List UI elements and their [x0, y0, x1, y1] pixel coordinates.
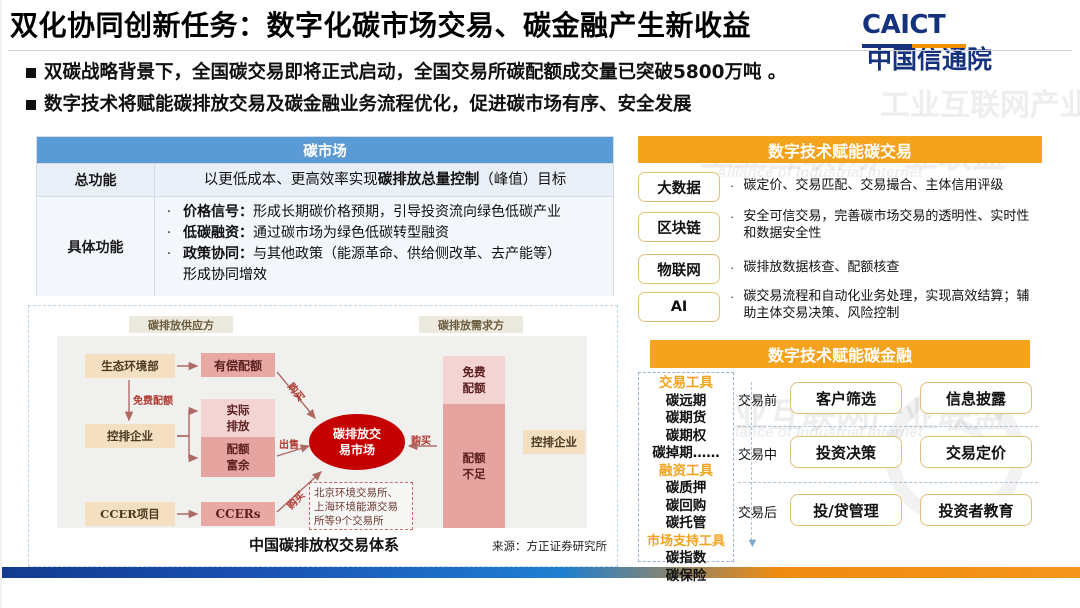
diagram-box-free-quota-demand: 免费配额 [443, 356, 505, 404]
tech-desc-text-3: 碳排放数据核查、配额核查 [743, 259, 899, 276]
bullet-text-1: 双碳战略背景下，全国碳交易即将正式启动，全国交易所碳配额成交量已突破5800万吨… [44, 60, 786, 86]
finance-pill-loan-management[interactable]: 投/贷管理 [790, 494, 902, 526]
list-item: · 低碳融资：通过碳市场为绿色低碳转型融资 [165, 223, 605, 244]
diagram-caption: 中国碳排放权交易体系 [29, 534, 619, 555]
slide-root: 工业互联网产业联盟 Alliance of Industrial Interne… [0, 0, 1080, 608]
stage-label-post: 交易后 [738, 502, 782, 521]
bullet-dot-icon: · [165, 244, 173, 265]
diagram-arrow-label-free-quota: 免费配额 [133, 392, 173, 407]
total-function-post: （峰值）目标 [479, 172, 566, 188]
stage-separator [738, 482, 1038, 483]
detail-term-3: 政策协同： [183, 246, 253, 262]
tools-item: 碳远期 [639, 393, 733, 411]
diagram-box-controlled-enterprise-left: 控排企业 [85, 424, 175, 448]
tools-item: 碳回购 [639, 498, 733, 516]
tools-item: 碳托管 [639, 515, 733, 533]
stage-separator [738, 426, 1038, 427]
tools-group-label-1: 交易工具 [639, 375, 733, 393]
bullet-dot-icon: · [730, 288, 734, 322]
panel-carbon-finance-header: 数字技术赋能碳金融 [650, 340, 1030, 368]
detail-desc-3: 与其他政策（能源革命、供给侧改革、去产能等） [253, 246, 561, 262]
table-row-label: 总功能 [37, 164, 155, 196]
tools-item: 碳期货 [639, 410, 733, 428]
finance-tools-column: 交易工具 碳远期 碳期货 碳期权 碳掉期…… 融资工具 碳质押 碳回购 碳托管 … [638, 372, 734, 562]
tech-desc-bigdata: · 碳定价、交易匹配、交易撮合、主体信用评级 [730, 177, 1038, 194]
diagram-box-ccers: CCERs [201, 502, 275, 526]
diagram-box-ministry: 生态环境部 [85, 354, 175, 378]
detail-text-2: 低碳融资：通过碳市场为绿色低碳转型融资 [183, 223, 449, 244]
tools-group-label-3: 市场支持工具 [639, 533, 733, 551]
diagram-exchanges-note: 北京环境交易所、上海环境能源交易所等9个交易所 [309, 482, 413, 530]
detail-continuation: 形成协同增效 [183, 265, 605, 286]
diagram-demand-tag: 碳排放需求方 [419, 316, 523, 333]
diagram-box-actual-emission: 实际排放 [201, 399, 275, 437]
detail-term-1: 价格信号： [183, 204, 253, 220]
tools-group-label-2: 融资工具 [639, 463, 733, 481]
diagram-arrow-label-sell: 出售 [279, 436, 299, 451]
carbon-market-table-header: 碳市场 [37, 137, 613, 163]
finance-pill-trade-pricing[interactable]: 交易定价 [920, 436, 1032, 468]
diagram-box-quota-surplus: 配额富余 [201, 437, 275, 477]
tech-chip-blockchain[interactable]: 区块链 [638, 212, 720, 242]
panel-carbon-trading-header: 数字技术赋能碳交易 [638, 136, 1042, 163]
panel-carbon-trading: 数字技术赋能碳交易 大数据 · 碳定价、交易匹配、交易撮合、主体信用评级 区块链… [638, 136, 1042, 324]
finance-pill-investment-decision[interactable]: 投资决策 [790, 436, 902, 468]
list-item: · 价格信号：形成长期碳价格预期，引导投资流向绿色低碳产业 [165, 202, 605, 223]
bullet-dot-icon: · [730, 208, 734, 242]
panel-carbon-finance: 数字技术赋能碳金融 交易工具 碳远期 碳期货 碳期权 碳掉期…… 融资工具 碳质… [638, 340, 1042, 568]
carbon-market-table: 碳市场 总功能 以更低成本、更高效率实现碳排放总量控制（峰值）目标 具体功能 ·… [36, 136, 614, 296]
total-function-pre: 以更低成本、更高效率实现 [204, 172, 378, 188]
carbon-trading-system-diagram: 碳排放供应方 碳排放需求方 生态环境部 有偿配额 控排企业 实际排放 配额富余 … [28, 305, 618, 567]
caict-logo: CAICT 中国信通院 [862, 10, 1074, 50]
bullet-text-2: 数字技术将赋能碳排放交易及碳金融业务流程优化，促进碳市场有序、安全发展 [44, 92, 692, 118]
total-function-bold: 碳排放总量控制 [378, 172, 480, 188]
left-edge-strip [0, 0, 2, 608]
diagram-box-controlled-enterprise-right: 控排企业 [523, 430, 585, 454]
table-row-value: · 价格信号：形成长期碳价格预期，引导投资流向绿色低碳产业 · 低碳融资：通过碳… [155, 197, 613, 296]
stage-label-pre: 交易前 [738, 390, 782, 409]
stage-flow-arrow-icon: ▼ [746, 538, 759, 548]
header-divider [8, 50, 1072, 51]
list-item: · 政策协同：与其他政策（能源革命、供给侧改革、去产能等） [165, 244, 605, 265]
bullet-dot-icon: · [165, 223, 173, 244]
diagram-box-quota-shortage: 配额不足 [443, 404, 505, 528]
tools-item: 碳保险 [639, 568, 733, 586]
table-row-value: 以更低成本、更高效率实现碳排放总量控制（峰值）目标 [155, 164, 613, 196]
tech-chip-bigdata[interactable]: 大数据 [638, 172, 720, 202]
tech-chip-iot[interactable]: 物联网 [638, 254, 720, 284]
tools-item: 碳期权 [639, 428, 733, 446]
finance-pill-info-disclosure[interactable]: 信息披露 [920, 382, 1032, 414]
table-row-label: 具体功能 [37, 197, 155, 296]
tools-item: 碳掉期…… [639, 445, 733, 463]
logo-caict-text: CAICT [862, 10, 945, 40]
tech-desc-ai: · 碳交易流程和自动化业务处理，实现高效结算；辅助主体交易决策、风险控制 [730, 288, 1038, 322]
total-function-text: 以更低成本、更高效率实现碳排放总量控制（峰值）目标 [165, 169, 605, 192]
diagram-market-ellipse: 碳排放交易市场 [309, 414, 405, 470]
footer-gradient-bar [0, 567, 1080, 578]
tech-desc-text-2: 安全可信交易，完善碳市场交易的透明性、实时性和数据安全性 [743, 208, 1038, 242]
bullet-dot-icon: · [730, 259, 734, 276]
bullet-dot-icon: · [165, 202, 173, 223]
detail-desc-2: 通过碳市场为绿色低碳转型融资 [253, 225, 449, 241]
tech-desc-iot: · 碳排放数据核查、配额核查 [730, 259, 1038, 276]
stage-label-during: 交易中 [738, 444, 782, 463]
detail-text-3: 政策协同：与其他政策（能源革命、供给侧改革、去产能等） [183, 244, 561, 265]
diagram-box-paid-quota: 有偿配额 [201, 353, 275, 377]
detail-term-2: 低碳融资： [183, 225, 253, 241]
tools-item: 碳指数 [639, 550, 733, 568]
finance-pill-investor-education[interactable]: 投资者教育 [920, 494, 1032, 526]
table-row: 总功能 以更低成本、更高效率实现碳排放总量控制（峰值）目标 [37, 163, 613, 196]
bullet-square-icon [26, 100, 36, 110]
finance-pill-customer-screening[interactable]: 客户筛选 [790, 382, 902, 414]
tools-item: 碳质押 [639, 480, 733, 498]
table-row: 具体功能 · 价格信号：形成长期碳价格预期，引导投资流向绿色低碳产业 · 低碳融… [37, 196, 613, 296]
detail-text-1: 价格信号：形成长期碳价格预期，引导投资流向绿色低碳产业 [183, 202, 561, 223]
tech-desc-text-4: 碳交易流程和自动化业务处理，实现高效结算；辅助主体交易决策、风险控制 [743, 288, 1038, 322]
diagram-arrow-label-buy-right: 购买 [411, 432, 431, 447]
tech-desc-blockchain: · 安全可信交易，完善碳市场交易的透明性、实时性和数据安全性 [730, 208, 1038, 242]
watermark-text-9: 工业互联网产业联盟 [880, 80, 1080, 124]
tech-chip-ai[interactable]: AI [638, 292, 720, 322]
bullet-dot-icon: · [730, 177, 734, 194]
logo-underline-bar [862, 44, 966, 48]
bullet-square-icon [26, 68, 36, 78]
bullet-item-1: 双碳战略背景下，全国碳交易即将正式启动，全国交易所碳配额成交量已突破5800万吨… [26, 60, 786, 86]
detail-desc-1: 形成长期碳价格预期，引导投资流向绿色低碳产业 [253, 204, 561, 220]
bullet-item-2: 数字技术将赋能碳排放交易及碳金融业务流程优化，促进碳市场有序、安全发展 [26, 92, 692, 118]
diagram-box-ccer-project: CCER项目 [85, 502, 175, 526]
tech-desc-text-1: 碳定价、交易匹配、交易撮合、主体信用评级 [743, 177, 1003, 194]
diagram-supply-tag: 碳排放供应方 [129, 316, 233, 333]
